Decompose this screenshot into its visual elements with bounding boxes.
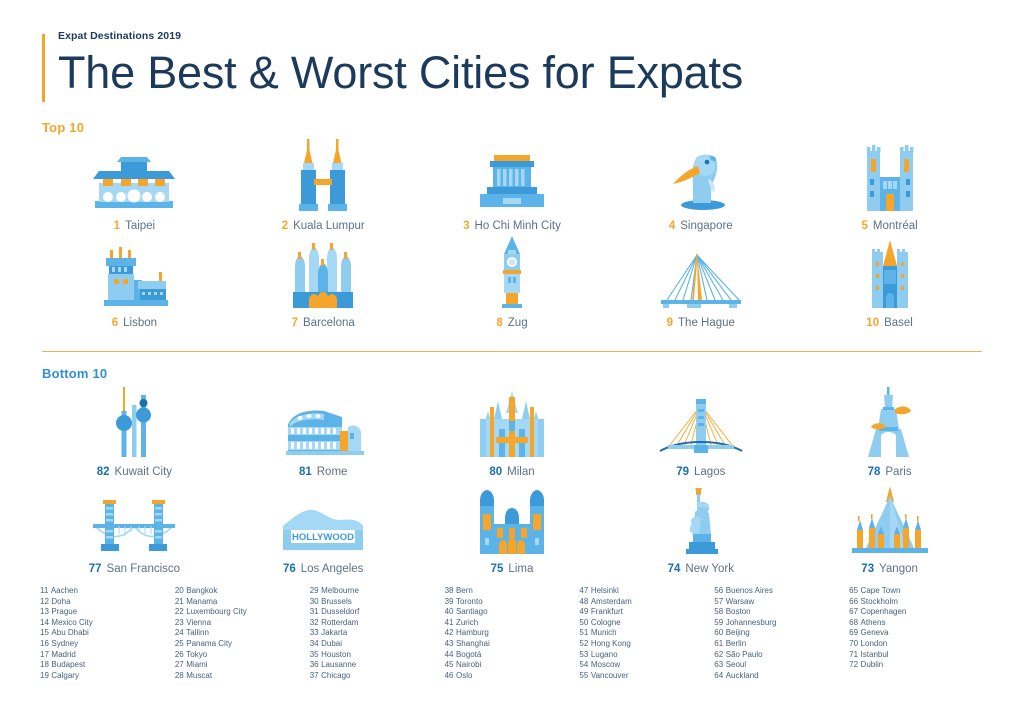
city-card-the-hague[interactable]: 9 The Hague: [606, 236, 795, 329]
ranking-city-name: Boston: [726, 607, 751, 616]
city-card-kuala-lumpur[interactable]: 2 Kuala Lumpur: [229, 139, 418, 232]
ranking-list-item: 29Melbourne: [310, 586, 445, 597]
ranking-number: 20: [175, 586, 184, 595]
ranking-number: 48: [579, 597, 588, 606]
ranking-list-item: 67Copenhagen: [849, 607, 984, 618]
city-label: 81 Rome: [299, 466, 347, 478]
city-name: The Hague: [678, 317, 735, 329]
ranking-city-name: Geneva: [861, 628, 889, 637]
eiffel-tower-icon: [859, 387, 921, 457]
belem-tower-icon: [94, 246, 174, 308]
ranking-city-name: Budapest: [51, 660, 85, 669]
city-name: Lima: [508, 563, 533, 575]
city-rank: 6: [112, 317, 118, 329]
ranking-list-item: 51Munich: [579, 628, 714, 639]
city-name: Taipei: [125, 220, 155, 232]
ranking-number: 29: [310, 586, 319, 595]
city-name: Zug: [508, 317, 528, 329]
ranking-city-name: Hong Kong: [591, 639, 631, 648]
ranking-number: 38: [445, 586, 454, 595]
city-card-new-york[interactable]: 74 New York: [606, 482, 795, 575]
ranking-list-item: 41Zurich: [445, 618, 580, 629]
ranking-list-item: 60Beijing: [714, 628, 849, 639]
ranking-list-item: 23Vienna: [175, 618, 310, 629]
city-label: 2 Kuala Lumpur: [282, 220, 365, 232]
ranking-city-name: Tokyo: [186, 650, 207, 659]
ranking-number: 11: [40, 586, 48, 595]
ranking-number: 62: [714, 650, 723, 659]
city-label: 8 Zug: [496, 317, 527, 329]
ranking-number: 43: [445, 639, 454, 648]
icon-container: [474, 149, 550, 211]
city-rank: 73: [861, 563, 874, 575]
ranking-city-name: Melbourne: [321, 586, 359, 595]
city-name: Barcelona: [303, 317, 355, 329]
icon-container: [863, 139, 917, 211]
city-name: Lisbon: [123, 317, 157, 329]
ranking-number: 52: [579, 639, 588, 648]
ranking-city-name: Vancouver: [591, 671, 629, 680]
city-card-lima[interactable]: 75 Lima: [418, 482, 607, 575]
city-rank: 1: [114, 220, 120, 232]
ranking-number: 27: [175, 660, 184, 669]
ranking-number: 71: [849, 650, 858, 659]
city-rank: 80: [489, 466, 502, 478]
city-label: 74 New York: [668, 563, 734, 575]
ranking-column: 56Buenos Aires57Warsaw58Boston59Johannes…: [714, 586, 849, 681]
city-rank: 3: [463, 220, 469, 232]
hollywood-sign-text: HOLLYWOOD: [292, 532, 354, 543]
ranking-list-item: 15Abu Dhabi: [40, 628, 175, 639]
city-card-kuwait-city[interactable]: 82 Kuwait City: [40, 385, 229, 478]
petronas-towers-icon: [294, 139, 352, 211]
ranking-list-item: 50Cologne: [579, 618, 714, 629]
icon-container: [91, 149, 177, 211]
ranking-list-item: 70London: [849, 639, 984, 650]
icon-container: [476, 385, 548, 457]
city-label: 79 Lagos: [676, 466, 725, 478]
city-label: 77 San Francisco: [89, 563, 180, 575]
page-title: The Best & Worst Cities for Expats: [58, 48, 984, 98]
city-card-yangon[interactable]: 73 Yangon: [795, 482, 984, 575]
ranking-number: 16: [40, 639, 49, 648]
ranking-city-name: Istanbul: [861, 650, 889, 659]
ranking-column: 47Helsinki48Amsterdam49Frankfurt50Cologn…: [579, 586, 714, 681]
ranking-city-name: Santiago: [456, 607, 488, 616]
ranking-city-name: Johannesburg: [726, 618, 777, 627]
ranking-list-item: 30Brussels: [310, 597, 445, 608]
ranking-list-item: 45Nairobi: [445, 660, 580, 671]
kuwait-towers-icon: [107, 385, 161, 457]
ranking-city-name: Auckland: [726, 671, 759, 680]
ranking-city-name: Tallinn: [186, 628, 209, 637]
ranking-list-item: 33Jakarta: [310, 628, 445, 639]
ranking-list-item: 59Johannesburg: [714, 618, 849, 629]
hollywood-sign-icon: HOLLYWOOD: [277, 506, 369, 554]
icon-container: [866, 236, 914, 308]
ranking-number: 51: [579, 628, 588, 637]
ranking-city-name: Brussels: [321, 597, 352, 606]
ranking-number: 63: [714, 660, 723, 669]
zytturm-clock-tower-icon: [495, 236, 529, 308]
ranking-list-item: 48Amsterdam: [579, 597, 714, 608]
ranking-number: 18: [40, 660, 49, 669]
ranking-number: 41: [445, 618, 454, 627]
ranking-number: 40: [445, 607, 454, 616]
ranking-city-name: Sydney: [51, 639, 78, 648]
ranking-number: 15: [40, 628, 49, 637]
ranking-list-item: 47Helsinki: [579, 586, 714, 597]
ranking-list-item: 31Dusseldorf: [310, 607, 445, 618]
ranking-number: 17: [40, 650, 49, 659]
city-name: Kuwait City: [115, 466, 173, 478]
ranking-city-name: Moscow: [591, 660, 620, 669]
ranking-list-item: 66Stockholm: [849, 597, 984, 608]
city-rank: 78: [868, 466, 881, 478]
ranking-city-name: Athens: [861, 618, 886, 627]
ranking-city-name: Hamburg: [456, 628, 489, 637]
city-rank: 7: [292, 317, 298, 329]
ranking-number: 64: [714, 671, 723, 680]
ho-chi-minh-mausoleum-icon: [474, 153, 550, 211]
city-rank: 8: [496, 317, 502, 329]
ranking-list-item: 63Seoul: [714, 660, 849, 671]
city-card-ho-chi-minh-city[interactable]: 3 Ho Chi Minh City: [418, 139, 607, 232]
ranking-list-item: 57Warsaw: [714, 597, 849, 608]
ranking-list-item: 21Manama: [175, 597, 310, 608]
ranking-list-item: 37Chicago: [310, 671, 445, 682]
city-card-taipei[interactable]: 1 Taipei: [40, 139, 229, 232]
city-label: 76 Los Angeles: [283, 563, 363, 575]
ranking-list-item: 22Luxembourg City: [175, 607, 310, 618]
icon-container: [287, 236, 359, 308]
ranking-city-name: Copenhagen: [861, 607, 907, 616]
city-label: 3 Ho Chi Minh City: [463, 220, 561, 232]
ranking-city-name: Oslo: [456, 671, 472, 680]
ranking-list-item: 54Moscow: [579, 660, 714, 671]
basel-minster-icon: [866, 240, 914, 308]
ranking-number: 24: [175, 628, 184, 637]
icon-container: HOLLYWOOD: [277, 492, 369, 554]
city-card-san-francisco[interactable]: 77 San Francisco: [40, 482, 229, 575]
ranking-city-name: Cologne: [591, 618, 621, 627]
city-name: Los Angeles: [301, 563, 364, 575]
ranking-number: 35: [310, 650, 319, 659]
ranking-city-name: Zurich: [456, 618, 478, 627]
city-rank: 76: [283, 563, 296, 575]
ranking-number: 37: [310, 671, 319, 680]
ranking-number: 70: [849, 639, 858, 648]
city-card-montreal[interactable]: 5 Montréal: [795, 139, 984, 232]
section-heading-bottom10: Bottom 10: [42, 366, 984, 381]
sagrada-familia-icon: [287, 240, 359, 308]
city-card-lisbon[interactable]: 6 Lisbon: [40, 236, 229, 329]
ranking-number: 22: [175, 607, 184, 616]
ranking-number: 13: [40, 607, 49, 616]
header-accent-bar: [42, 34, 45, 102]
ranking-column: 29Melbourne30Brussels31Dusseldorf32Rotte…: [310, 586, 445, 681]
ranking-list-item: 27Miami: [175, 660, 310, 671]
ranking-number: 28: [175, 671, 184, 680]
ranking-number: 53: [579, 650, 588, 659]
city-name: Yangon: [879, 563, 918, 575]
icon-container: [657, 246, 745, 308]
lima-cathedral-icon: [474, 490, 550, 554]
city-name: Rome: [317, 466, 348, 478]
merlion-icon: [667, 149, 735, 211]
ranking-city-name: Bern: [456, 586, 473, 595]
ranking-list-item: 28Muscat: [175, 671, 310, 682]
ranking-list-item: 40Santiago: [445, 607, 580, 618]
ranking-city-name: Seoul: [726, 660, 746, 669]
ranking-number: 58: [714, 607, 723, 616]
city-label: 6 Lisbon: [112, 317, 157, 329]
city-rank: 4: [669, 220, 675, 232]
ranking-city-name: Toronto: [456, 597, 483, 606]
city-name: Paris: [885, 466, 911, 478]
ranking-list-item: 35Houston: [310, 650, 445, 661]
golden-gate-bridge-icon: [89, 496, 179, 554]
city-name: Basel: [884, 317, 913, 329]
city-card-basel[interactable]: 10 Basel: [795, 236, 984, 329]
ranking-city-name: Rotterdam: [321, 618, 358, 627]
infographic-page: Expat Destinations 2019 The Best & Worst…: [0, 0, 1024, 723]
city-name: New York: [685, 563, 734, 575]
ranking-number: 39: [445, 597, 454, 606]
ranking-number: 42: [445, 628, 454, 637]
ranking-number: 33: [310, 628, 319, 637]
city-card-zug[interactable]: 8 Zug: [418, 236, 607, 329]
city-rank: 79: [676, 466, 689, 478]
ranking-list-item: 17Madrid: [40, 650, 175, 661]
icon-container: [107, 385, 161, 457]
city-name: Milan: [507, 466, 534, 478]
ranking-list-item: 32Rotterdam: [310, 618, 445, 629]
ranking-number: 46: [445, 671, 454, 680]
ranking-city-name: Houston: [321, 650, 351, 659]
ranking-number: 50: [579, 618, 588, 627]
ranking-number: 59: [714, 618, 723, 627]
ranking-number: 23: [175, 618, 184, 627]
ranking-list-item: 56Buenos Aires: [714, 586, 849, 597]
duomo-di-milano-icon: [476, 389, 548, 457]
ranking-column: 11Aachen12Doha13Prague14Mexico City15Abu…: [40, 586, 175, 681]
ranking-list-item: 72Dublin: [849, 660, 984, 671]
ranking-number: 66: [849, 597, 858, 606]
city-rank: 75: [491, 563, 504, 575]
city-label: 5 Montréal: [862, 220, 918, 232]
city-name: Kuala Lumpur: [293, 220, 365, 232]
ranking-number: 34: [310, 639, 319, 648]
ranking-column: 20Bangkok21Manama22Luxembourg City23Vien…: [175, 586, 310, 681]
shwedagon-pagoda-icon: [848, 486, 932, 554]
bottom10-row-1: 82 Kuwait City: [40, 385, 984, 478]
city-card-milan[interactable]: 80 Milan: [418, 385, 607, 478]
section-divider: [42, 351, 982, 352]
ranking-city-name: London: [861, 639, 888, 648]
ranking-list: 11Aachen12Doha13Prague14Mexico City15Abu…: [40, 586, 984, 681]
city-rank: 5: [862, 220, 868, 232]
ranking-number: 47: [579, 586, 588, 595]
city-card-barcelona[interactable]: 7 Barcelona: [229, 236, 418, 329]
city-label: 78 Paris: [868, 466, 912, 478]
ranking-list-item: 13Prague: [40, 607, 175, 618]
ranking-city-name: Warsaw: [726, 597, 755, 606]
city-label: 9 The Hague: [667, 317, 735, 329]
ranking-city-name: Dubai: [321, 639, 342, 648]
city-label: 73 Yangon: [861, 563, 918, 575]
icon-container: [495, 236, 529, 308]
ranking-list-item: 14Mexico City: [40, 618, 175, 629]
ranking-list-item: 38Bern: [445, 586, 580, 597]
ranking-city-name: Berlin: [726, 639, 746, 648]
kicker-text: Expat Destinations 2019: [58, 30, 984, 42]
ranking-number: 14: [40, 618, 49, 627]
icon-container: [859, 385, 921, 457]
ranking-list-item: 55Vancouver: [579, 671, 714, 682]
ranking-list-item: 53Lugano: [579, 650, 714, 661]
city-name: Lagos: [694, 466, 725, 478]
ranking-number: 67: [849, 607, 858, 616]
ranking-city-name: Lausanne: [321, 660, 356, 669]
ranking-city-name: Abu Dhabi: [51, 628, 88, 637]
ranking-number: 25: [175, 639, 184, 648]
city-card-singapore[interactable]: 4 Singapore: [606, 139, 795, 232]
ranking-list-item: 39Toronto: [445, 597, 580, 608]
ranking-list-item: 34Dubai: [310, 639, 445, 650]
ranking-list-item: 26Tokyo: [175, 650, 310, 661]
ranking-list-item: 36Lausanne: [310, 660, 445, 671]
ranking-number: 12: [40, 597, 49, 606]
city-label: 82 Kuwait City: [97, 466, 172, 478]
ranking-number: 45: [445, 660, 454, 669]
ranking-city-name: Buenos Aires: [726, 586, 773, 595]
section-heading-top10: Top 10: [42, 120, 984, 135]
icon-container: [848, 482, 932, 554]
ranking-city-name: Chicago: [321, 671, 350, 680]
city-label: 10 Basel: [866, 317, 913, 329]
ranking-list-item: 65Cape Town: [849, 586, 984, 597]
city-card-rome[interactable]: 81 Rome: [229, 385, 418, 478]
erasmus-bridge-icon: [657, 250, 745, 308]
city-name: Ho Chi Minh City: [475, 220, 561, 232]
city-rank: 9: [667, 317, 673, 329]
ranking-city-name: Doha: [51, 597, 70, 606]
ranking-column: 38Bern39Toronto40Santiago41Zurich42Hambu…: [445, 586, 580, 681]
ranking-city-name: Dusseldorf: [321, 607, 359, 616]
city-label: 80 Milan: [489, 466, 534, 478]
city-rank: 81: [299, 466, 312, 478]
icon-container: [474, 482, 550, 554]
ranking-list-item: 69Geneva: [849, 628, 984, 639]
city-name: San Francisco: [107, 563, 181, 575]
ranking-city-name: Dublin: [861, 660, 884, 669]
ranking-city-name: Aachen: [51, 586, 78, 595]
city-name: Montréal: [873, 220, 918, 232]
ranking-list-item: 68Athens: [849, 618, 984, 629]
ranking-number: 56: [714, 586, 723, 595]
icon-container: [94, 246, 174, 308]
ranking-city-name: Cape Town: [861, 586, 901, 595]
ranking-number: 55: [579, 671, 588, 680]
ranking-city-name: Luxembourg City: [186, 607, 246, 616]
city-label: 7 Barcelona: [292, 317, 355, 329]
ranking-list-item: 12Doha: [40, 597, 175, 608]
ranking-city-name: Miami: [186, 660, 207, 669]
ranking-city-name: Prague: [51, 607, 77, 616]
ranking-number: 26: [175, 650, 184, 659]
icon-container: [282, 395, 364, 457]
ranking-list-item: 25Panama City: [175, 639, 310, 650]
city-card-los-angeles[interactable]: HOLLYWOOD 76 Los Angeles: [229, 482, 418, 575]
ranking-column: 65Cape Town66Stockholm67Copenhagen68Athe…: [849, 586, 984, 681]
header: Expat Destinations 2019 The Best & Worst…: [40, 0, 984, 98]
ranking-number: 69: [849, 628, 858, 637]
city-card-lagos[interactable]: 79 Lagos: [606, 385, 795, 478]
ranking-list-item: 62São Paulo: [714, 650, 849, 661]
ranking-list-item: 46Oslo: [445, 671, 580, 682]
ranking-city-name: Amsterdam: [591, 597, 632, 606]
ranking-number: 68: [849, 618, 858, 627]
ranking-number: 21: [175, 597, 184, 606]
ranking-list-item: 20Bangkok: [175, 586, 310, 597]
ranking-list-item: 19Calgary: [40, 671, 175, 682]
ranking-number: 61: [714, 639, 723, 648]
chiang-kai-shek-memorial-icon: [91, 157, 177, 211]
city-label: 4 Singapore: [669, 220, 733, 232]
notre-dame-basilica-icon: [863, 145, 917, 211]
ranking-city-name: São Paulo: [726, 650, 763, 659]
bottom10-row-2: 77 San Francisco HOLLYWOOD 76 Los Angele…: [40, 482, 984, 575]
city-rank: 10: [866, 317, 879, 329]
ranking-city-name: Nairobi: [456, 660, 481, 669]
city-label: 1 Taipei: [114, 220, 155, 232]
ranking-list-item: 43Shanghai: [445, 639, 580, 650]
ranking-number: 72: [849, 660, 858, 669]
ranking-city-name: Calgary: [51, 671, 79, 680]
icon-container: [658, 395, 744, 457]
ranking-city-name: Jakarta: [321, 628, 347, 637]
ranking-city-name: Panama City: [186, 639, 232, 648]
ranking-city-name: Manama: [186, 597, 217, 606]
city-card-paris[interactable]: 78 Paris: [795, 385, 984, 478]
ranking-city-name: Vienna: [186, 618, 211, 627]
ranking-list-item: 42Hamburg: [445, 628, 580, 639]
ranking-list-item: 61Berlin: [714, 639, 849, 650]
lekki-ikoyi-bridge-icon: [658, 395, 744, 457]
ranking-list-item: 16Sydney: [40, 639, 175, 650]
ranking-list-item: 64Auckland: [714, 671, 849, 682]
ranking-number: 44: [445, 650, 454, 659]
ranking-city-name: Frankfurt: [591, 607, 623, 616]
icon-container: [89, 492, 179, 554]
icon-container: [294, 139, 352, 211]
ranking-number: 30: [310, 597, 319, 606]
ranking-city-name: Bangkok: [186, 586, 217, 595]
ranking-number: 36: [310, 660, 319, 669]
ranking-list-item: 24Tallinn: [175, 628, 310, 639]
ranking-number: 65: [849, 586, 858, 595]
icon-container: [667, 149, 735, 211]
statue-of-liberty-icon: [677, 486, 725, 554]
ranking-list-item: 49Frankfurt: [579, 607, 714, 618]
ranking-city-name: Madrid: [51, 650, 75, 659]
city-rank: 2: [282, 220, 288, 232]
city-name: Singapore: [680, 220, 732, 232]
top10-row-1: 1 Taipei: [40, 139, 984, 232]
ranking-city-name: Mexico City: [51, 618, 92, 627]
colosseum-icon: [282, 405, 364, 457]
